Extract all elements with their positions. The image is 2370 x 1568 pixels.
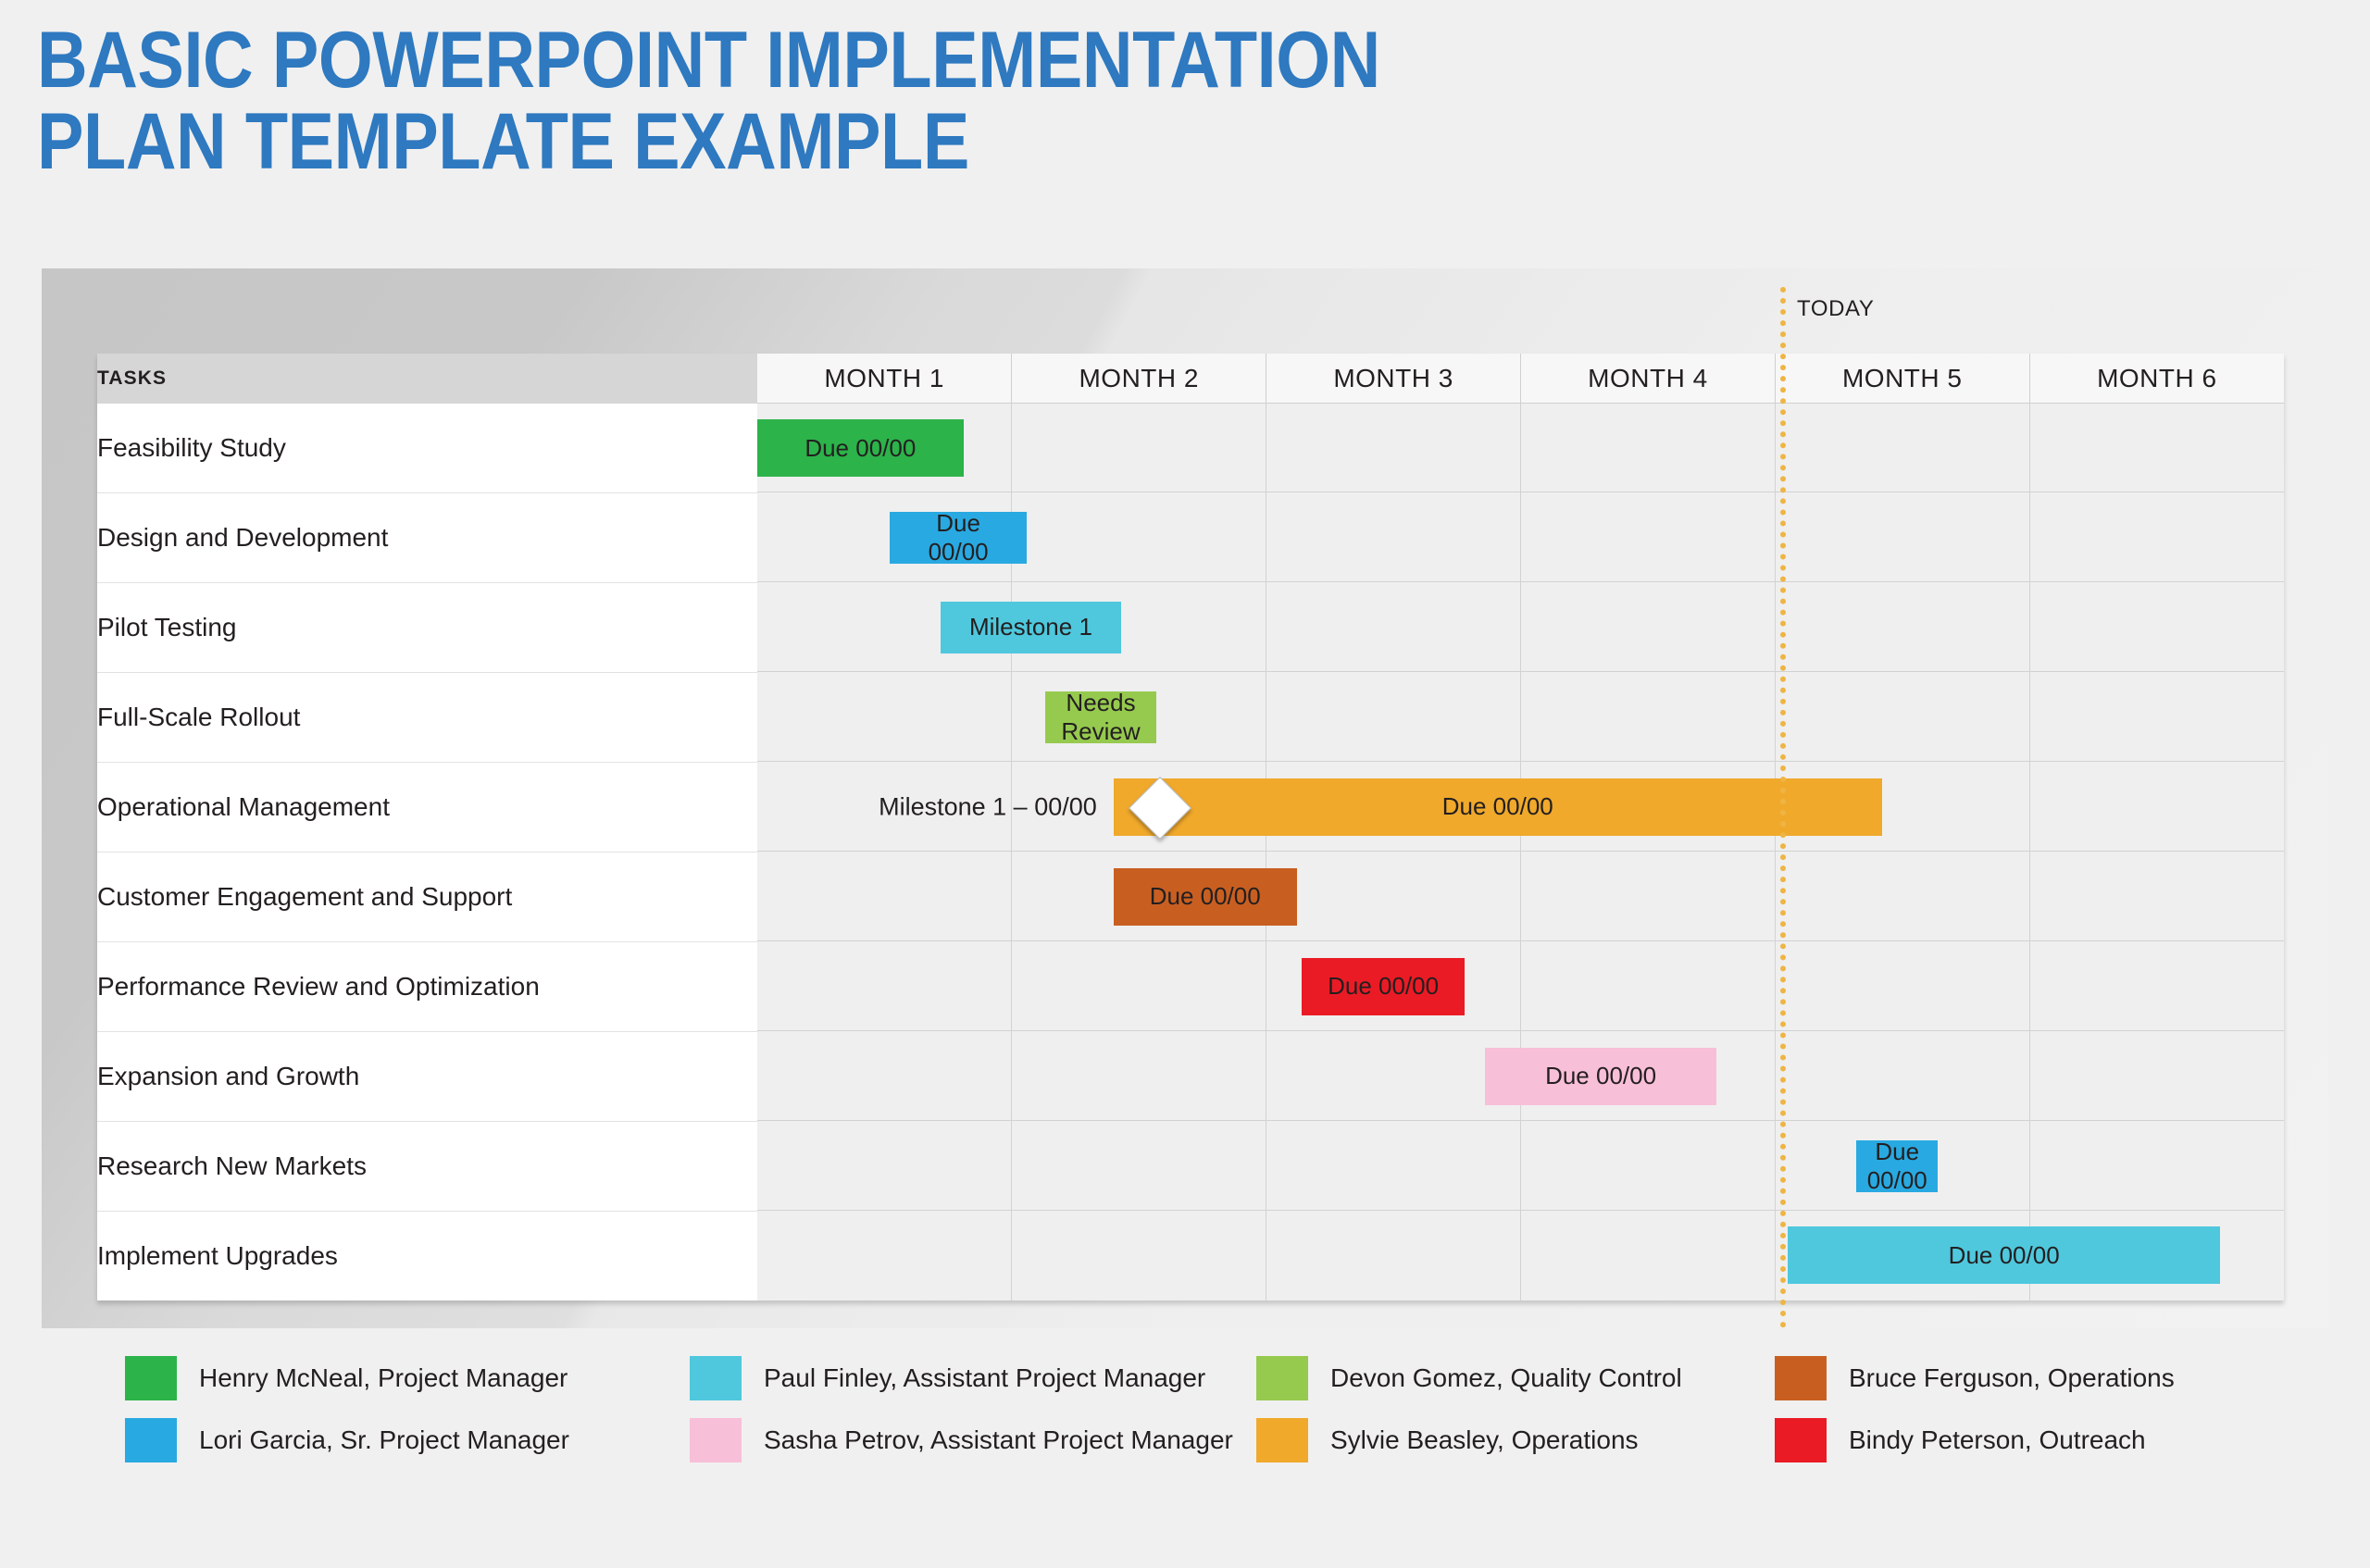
gantt-table-head: TASKS MONTH 1 MONTH 2 MONTH 3 MONTH 4 MO… (97, 354, 2284, 404)
timeline-lane: Due 00/00 (757, 941, 2284, 1031)
legend-label: Devon Gomez, Quality Control (1330, 1363, 1682, 1393)
legend: Henry McNeal, Project ManagerPaul Finley… (125, 1347, 2282, 1471)
column-header-month-2: MONTH 2 (1012, 354, 1266, 404)
legend-swatch (125, 1418, 177, 1462)
lane-cell-month-1 (757, 852, 1012, 941)
legend-item: Sylvie Beasley, Operations (1256, 1418, 1775, 1462)
lane-cell-month-6 (2030, 852, 2284, 941)
lane-gridlines (757, 404, 2284, 492)
legend-label: Lori Garcia, Sr. Project Manager (199, 1425, 569, 1455)
task-name-cell: Full-Scale Rollout (97, 672, 757, 762)
lane-cell-month-6 (2030, 492, 2284, 582)
legend-swatch (690, 1418, 742, 1462)
legend-label: Bindy Peterson, Outreach (1849, 1425, 2146, 1455)
lane-cell-month-2 (1012, 941, 1266, 1031)
lane-cell-month-6 (2030, 582, 2284, 672)
lane-cell-month-6 (2030, 404, 2284, 492)
gantt-bar[interactable]: Due 00/00 (1114, 868, 1297, 926)
lane-cell-month-6 (2030, 941, 2284, 1031)
lane-cell-month-6 (2030, 762, 2284, 852)
lane-cell-month-5 (1776, 1031, 2030, 1121)
lane-cell-month-3 (1266, 404, 1521, 492)
task-name-cell: Design and Development (97, 492, 757, 582)
timeline-lane: Due 00/00 (757, 1031, 2284, 1121)
column-header-month-6: MONTH 6 (2029, 354, 2284, 404)
task-name-cell: Expansion and Growth (97, 1031, 757, 1121)
legend-item: Lori Garcia, Sr. Project Manager (125, 1418, 690, 1462)
table-row: Research New MarketsDue 00/00 (97, 1121, 2284, 1211)
legend-label: Paul Finley, Assistant Project Manager (764, 1363, 1205, 1393)
lane-cell-month-4 (1521, 1211, 1776, 1300)
lane-cell-month-4 (1521, 404, 1776, 492)
task-name-cell: Performance Review and Optimization (97, 941, 757, 1031)
table-row: Expansion and GrowthDue 00/00 (97, 1031, 2284, 1121)
column-header-month-1: MONTH 1 (757, 354, 1012, 404)
page-title: BASIC POWERPOINT IMPLEMENTATION PLAN TEM… (37, 20, 1666, 182)
milestone-pre-label: Milestone 1 – 00/00 (879, 792, 1097, 821)
lane-cell-month-1 (757, 1031, 1012, 1121)
legend-label: Bruce Ferguson, Operations (1849, 1363, 2175, 1393)
lane-cell-month-1 (757, 941, 1012, 1031)
column-header-month-4: MONTH 4 (1520, 354, 1775, 404)
legend-label: Sasha Petrov, Assistant Project Manager (764, 1425, 1233, 1455)
lane-gridlines (757, 941, 2284, 1031)
legend-swatch (690, 1356, 742, 1400)
table-row: Feasibility StudyDue 00/00 (97, 404, 2284, 493)
task-name-cell: Operational Management (97, 762, 757, 852)
gantt-bar[interactable]: Milestone 1 (941, 602, 1121, 653)
gantt-bar[interactable]: Due 00/00 (1302, 958, 1465, 1015)
lane-cell-month-5 (1776, 852, 2030, 941)
gantt-bar[interactable]: Due 00/00 (757, 419, 964, 477)
legend-swatch (1256, 1418, 1308, 1462)
legend-label: Henry McNeal, Project Manager (199, 1363, 568, 1393)
gantt-bar[interactable]: Due 00/00 (890, 512, 1027, 564)
lane-cell-month-1 (757, 1121, 1012, 1211)
gantt-table: TASKS MONTH 1 MONTH 2 MONTH 3 MONTH 4 MO… (97, 354, 2284, 1300)
table-row: Performance Review and OptimizationDue 0… (97, 941, 2284, 1031)
table-row: Pilot TestingMilestone 1 (97, 582, 2284, 672)
table-row: Operational ManagementMilestone 1 – 00/0… (97, 762, 2284, 852)
lane-cell-month-3 (1266, 1121, 1521, 1211)
column-header-tasks: TASKS (97, 354, 757, 404)
lane-cell-month-5 (1776, 492, 2030, 582)
lane-cell-month-2 (1012, 404, 1266, 492)
lane-cell-month-4 (1521, 582, 1776, 672)
legend-swatch (1775, 1356, 1827, 1400)
header-row: TASKS MONTH 1 MONTH 2 MONTH 3 MONTH 4 MO… (97, 354, 2284, 404)
lane-cell-month-1 (757, 1211, 1012, 1300)
lane-cell-month-4 (1521, 492, 1776, 582)
lane-cell-month-1 (757, 672, 1012, 762)
task-name-cell: Research New Markets (97, 1121, 757, 1211)
lane-cell-month-5 (1776, 672, 2030, 762)
lane-cell-month-5 (1776, 941, 2030, 1031)
lane-cell-month-6 (2030, 1031, 2284, 1121)
legend-item: Bindy Peterson, Outreach (1775, 1418, 2282, 1462)
timeline-lane: Milestone 1 – 00/00Due 00/00 (757, 762, 2284, 852)
lane-cell-month-3 (1266, 1031, 1521, 1121)
today-flag: TODAY (1784, 289, 1890, 330)
lane-cell-month-5 (1776, 582, 2030, 672)
legend-label: Sylvie Beasley, Operations (1330, 1425, 1639, 1455)
legend-swatch (125, 1356, 177, 1400)
lane-cell-month-3 (1266, 1211, 1521, 1300)
task-name-cell: Pilot Testing (97, 582, 757, 672)
legend-swatch (1256, 1356, 1308, 1400)
lane-gridlines (757, 672, 2284, 762)
timeline-lane: Due 00/00 (757, 1121, 2284, 1211)
legend-item: Bruce Ferguson, Operations (1775, 1356, 2282, 1400)
lane-cell-month-3 (1266, 582, 1521, 672)
lane-cell-month-2 (1012, 1031, 1266, 1121)
gantt-bar[interactable]: Due 00/00 (1485, 1048, 1716, 1105)
gantt-bar[interactable]: Needs Review (1045, 691, 1157, 743)
lane-cell-month-4 (1521, 941, 1776, 1031)
lane-cell-month-3 (1266, 852, 1521, 941)
gantt-bar[interactable]: Due 00/00 (1788, 1226, 2220, 1284)
lane-cell-month-6 (2030, 1121, 2284, 1211)
lane-gridlines (757, 852, 2284, 941)
table-row: Customer Engagement and SupportDue 00/00 (97, 852, 2284, 941)
legend-item: Paul Finley, Assistant Project Manager (690, 1356, 1256, 1400)
legend-item: Devon Gomez, Quality Control (1256, 1356, 1775, 1400)
timeline-lane: Needs Review (757, 672, 2284, 762)
lane-cell-month-3 (1266, 672, 1521, 762)
legend-item: Henry McNeal, Project Manager (125, 1356, 690, 1400)
gantt-table-body: Feasibility StudyDue 00/00Design and Dev… (97, 404, 2284, 1300)
timeline-lane: Due 00/00 (757, 492, 2284, 582)
timeline-lane: Due 00/00 (757, 1211, 2284, 1300)
table-row: Implement UpgradesDue 00/00 (97, 1211, 2284, 1300)
timeline-lane: Milestone 1 (757, 582, 2284, 672)
lane-cell-month-2 (1012, 1211, 1266, 1300)
column-header-month-3: MONTH 3 (1266, 354, 1521, 404)
timeline-lane: Due 00/00 (757, 404, 2284, 493)
lane-cell-month-5 (1776, 404, 2030, 492)
gantt-bar[interactable]: Due 00/00 (1114, 778, 1882, 836)
legend-swatch (1775, 1418, 1827, 1462)
task-name-cell: Feasibility Study (97, 404, 757, 493)
table-row: Full-Scale RolloutNeeds Review (97, 672, 2284, 762)
gantt-bar[interactable]: Due 00/00 (1856, 1140, 1938, 1192)
lane-gridlines (757, 1121, 2284, 1211)
lane-cell-month-6 (2030, 672, 2284, 762)
lane-cell-month-2 (1012, 1121, 1266, 1211)
lane-cell-month-4 (1521, 852, 1776, 941)
lane-cell-month-3 (1266, 492, 1521, 582)
column-header-month-5: MONTH 5 (1775, 354, 2029, 404)
legend-item: Sasha Petrov, Assistant Project Manager (690, 1418, 1256, 1462)
timeline-lane: Due 00/00 (757, 852, 2284, 941)
table-row: Design and DevelopmentDue 00/00 (97, 492, 2284, 582)
task-name-cell: Customer Engagement and Support (97, 852, 757, 941)
lane-cell-month-2 (1012, 492, 1266, 582)
lane-cell-month-4 (1521, 1121, 1776, 1211)
task-name-cell: Implement Upgrades (97, 1211, 757, 1300)
lane-cell-month-4 (1521, 672, 1776, 762)
